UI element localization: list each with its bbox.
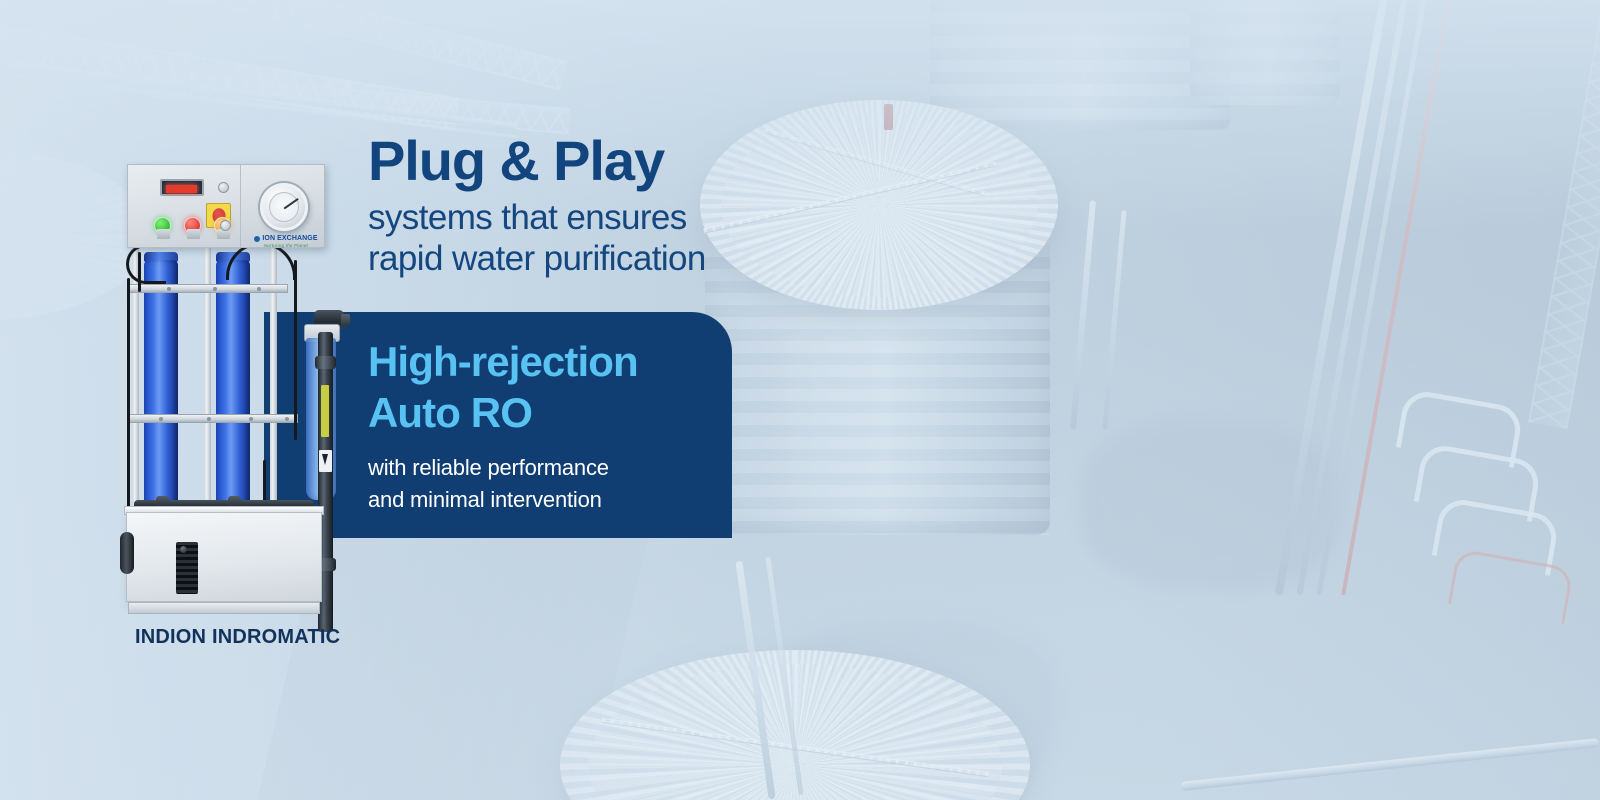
frame-rail-mid bbox=[128, 414, 298, 423]
indicator-lamp-red bbox=[184, 217, 201, 234]
membrane-vessel-left bbox=[144, 260, 178, 508]
headline-subtitle-line-2: rapid water purification bbox=[368, 238, 808, 279]
hose-loop-left bbox=[126, 244, 166, 284]
panel-screw-top-right bbox=[218, 182, 229, 193]
headline-subtitle-line-1: systems that ensures bbox=[368, 197, 808, 238]
feature-panel-body-line-2: and minimal intervention bbox=[368, 484, 712, 516]
pipe-joint-upper bbox=[315, 356, 336, 369]
membrane-vessel-right bbox=[216, 260, 250, 508]
pressure-gauge-needle bbox=[284, 198, 299, 209]
feature-panel-title-line-2: Auto RO bbox=[368, 387, 712, 438]
digital-display-readout bbox=[166, 185, 197, 193]
feature-panel-content: High-rejection Auto RO with reliable per… bbox=[368, 336, 712, 516]
headline-block: Plug & Play systems that ensures rapid w… bbox=[368, 132, 808, 280]
brand-logo-name: ION EXCHANGE bbox=[262, 235, 317, 242]
indicator-lamp-green bbox=[154, 217, 171, 234]
brand-logo-mark-icon bbox=[254, 236, 260, 242]
hero-banner: Plug & Play systems that ensures rapid w… bbox=[0, 0, 1600, 800]
hose-vertical-right bbox=[294, 260, 297, 440]
pressure-gauge bbox=[260, 183, 308, 231]
hose-vertical-left bbox=[127, 278, 130, 508]
base-vent-port bbox=[180, 546, 187, 553]
base-skid-foot bbox=[128, 602, 320, 614]
frame-rail-top bbox=[128, 284, 288, 293]
pipe-yellow-tape bbox=[321, 385, 329, 437]
control-panel-enclosure: ION EXCHANGE Nurturing the Planet bbox=[127, 164, 325, 248]
feature-panel-title-line-1: High-rejection bbox=[368, 336, 712, 387]
brand-logo: ION EXCHANGE Nurturing the Planet bbox=[246, 235, 326, 248]
digital-display bbox=[160, 179, 204, 196]
brand-logo-row: ION EXCHANGE bbox=[246, 235, 326, 242]
feature-panel-body-line-1: with reliable performance bbox=[368, 452, 712, 484]
hose-vertical-left-2 bbox=[138, 252, 141, 292]
control-panel-divider bbox=[240, 165, 241, 247]
feature-panel-title: High-rejection Auto RO bbox=[368, 336, 712, 438]
panel-pushbutton[interactable] bbox=[220, 220, 231, 231]
base-cabinet bbox=[126, 512, 322, 602]
base-caster-wheel bbox=[120, 532, 134, 574]
flow-direction-arrow-icon bbox=[319, 450, 332, 472]
product-image-indion-indromatic: ION EXCHANGE Nurturing the Planet bbox=[118, 160, 368, 660]
product-caption: INDION INDROMATIC bbox=[135, 626, 340, 649]
headline-subtitle: systems that ensures rapid water purific… bbox=[368, 197, 808, 280]
feature-panel-body: with reliable performance and minimal in… bbox=[368, 452, 712, 516]
brand-logo-tagline: Nurturing the Planet bbox=[246, 243, 326, 248]
headline-title: Plug & Play bbox=[368, 132, 808, 189]
